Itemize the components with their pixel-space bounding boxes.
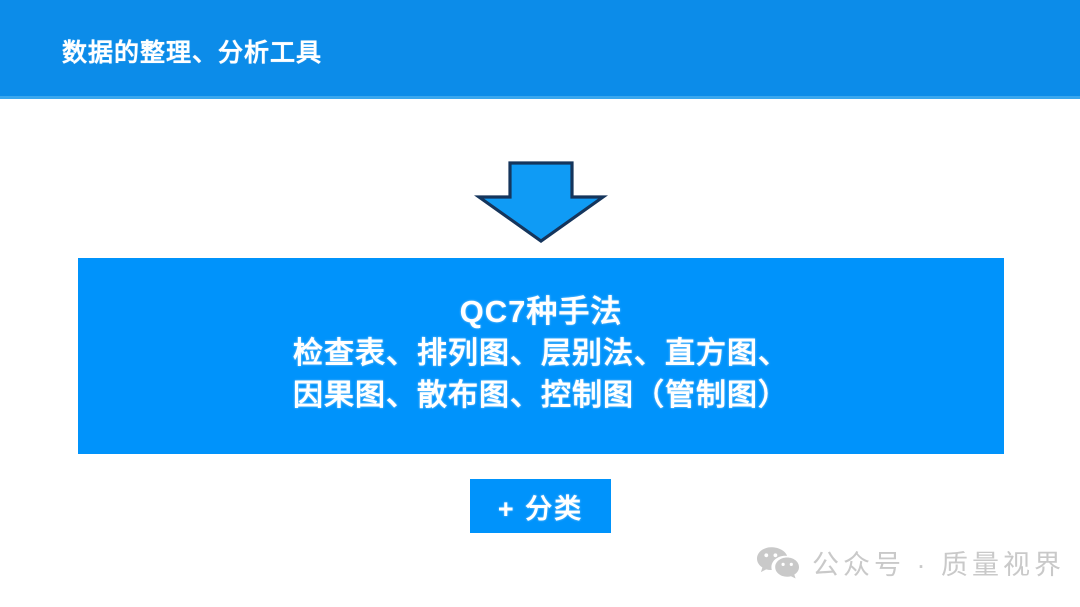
panel-heading: QC7种手法 xyxy=(460,294,623,331)
header-bar-underline xyxy=(0,96,1080,99)
page-title: 数据的整理、分析工具 xyxy=(62,33,322,69)
watermark: 公众号 · 质量视界 xyxy=(756,543,1065,582)
wechat-logo-icon xyxy=(756,546,800,580)
qc7-methods-panel: QC7种手法 检查表、排列图、层别法、直方图、 因果图、散布图、控制图（管制图） xyxy=(78,258,1004,454)
slide-canvas: 数据的整理、分析工具 QC7种手法 检查表、排列图、层别法、直方图、 因果图、散… xyxy=(0,0,1080,607)
panel-line-2: 因果图、散布图、控制图（管制图） xyxy=(293,375,789,418)
watermark-text: 公众号 · 质量视界 xyxy=(812,543,1065,582)
panel-line-1: 检查表、排列图、层别法、直方图、 xyxy=(293,333,789,376)
down-arrow-icon xyxy=(474,160,608,244)
classification-badge: + 分类 xyxy=(470,479,611,533)
classification-badge-label: + 分类 xyxy=(498,487,583,526)
